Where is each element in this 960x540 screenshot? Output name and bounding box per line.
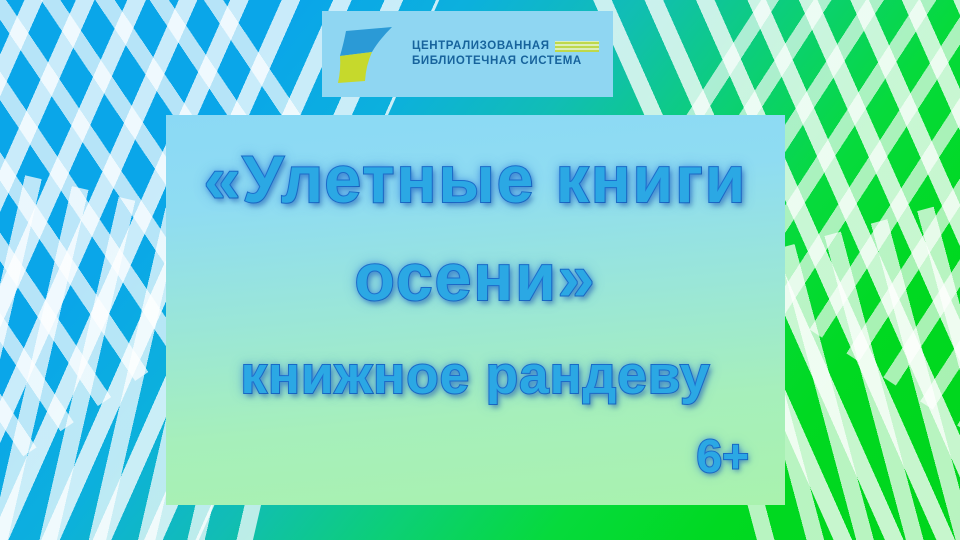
title-panel: «Улетные книги осени» книжное рандеву 6+ [166, 115, 785, 505]
logo-text-line1: ЦЕНТРАЛИЗОВАННАЯ [412, 39, 550, 54]
title-block: «Улетные книги осени» книжное рандеву [166, 115, 785, 505]
library-logo-text: ЦЕНТРАЛИЗОВАННАЯ БИБЛИОТЕЧНАЯ СИСТЕМА [412, 39, 599, 68]
title-line-1: «Улетные книги [166, 141, 785, 217]
book-pages-logo-icon [332, 17, 406, 91]
title-subtitle: книжное рандеву [166, 345, 785, 406]
logo-accent-swatch [555, 41, 599, 52]
age-rating-badge: 6+ [697, 429, 749, 483]
logo-text-line2: БИБЛИОТЕЧНАЯ СИСТЕМА [412, 54, 599, 69]
library-logo-banner: ЦЕНТРАЛИЗОВАННАЯ БИБЛИОТЕЧНАЯ СИСТЕМА [322, 11, 613, 97]
title-line-2: осени» [166, 239, 785, 315]
poster-slide: ЦЕНТРАЛИЗОВАННАЯ БИБЛИОТЕЧНАЯ СИСТЕМА «У… [0, 0, 960, 540]
